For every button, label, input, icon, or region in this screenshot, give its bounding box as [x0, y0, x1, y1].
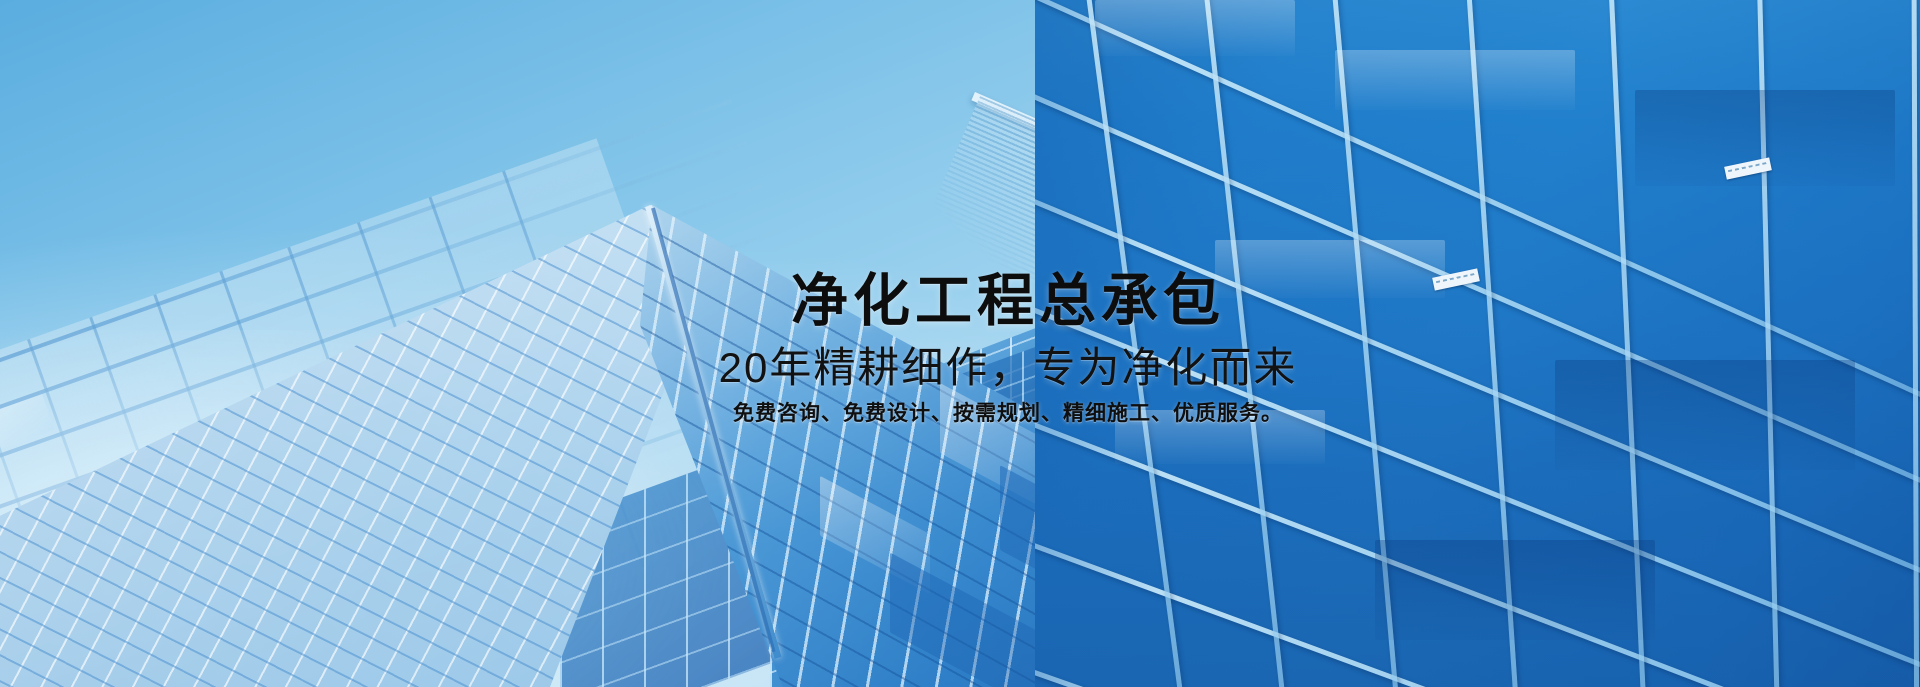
banner-headline: 净化工程总承包: [96, 272, 1920, 330]
hero-banner: 净化工程总承包 20年精耕细作，专为净化而来 免费咨询、免费设计、按需规划、精细…: [0, 0, 1920, 687]
banner-tagline: 免费咨询、免费设计、按需规划、精细施工、优质服务。: [96, 402, 1920, 425]
banner-subheadline: 20年精耕细作，专为净化而来: [96, 346, 1920, 390]
banner-copy: 净化工程总承包 20年精耕细作，专为净化而来 免费咨询、免费设计、按需规划、精细…: [0, 272, 1920, 425]
